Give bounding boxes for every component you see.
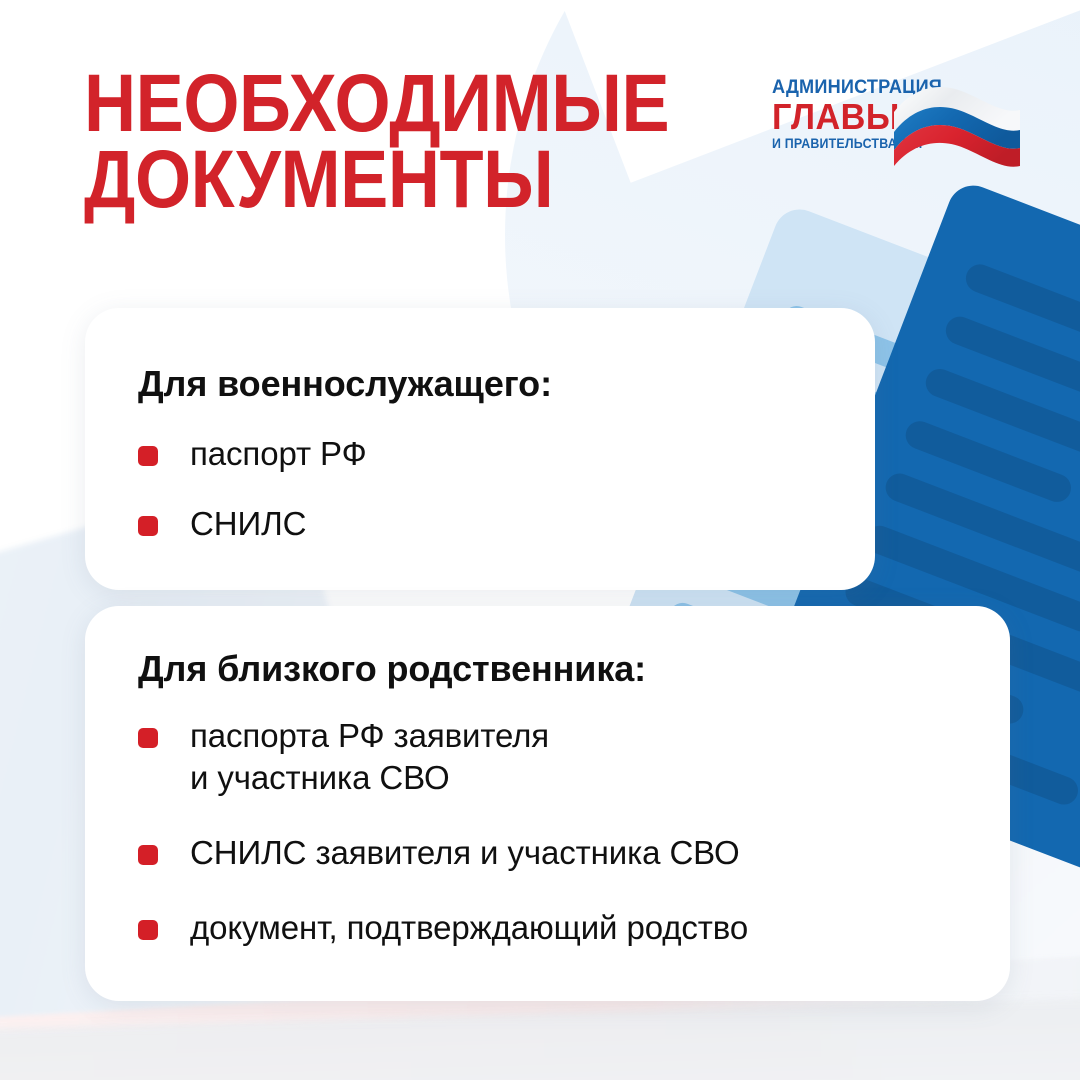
document-list: паспорта РФ заявителя и участника СВО СН…	[138, 715, 974, 982]
list-item: СНИЛС заявителя и участника СВО	[138, 832, 974, 874]
list-item: паспорт РФ	[138, 433, 839, 475]
organization-logo: Администрация Главы и Правительства ДНР	[772, 74, 1022, 172]
poster-canvas: НЕОБХОДИМЫЕ ДОКУМЕНТЫ Администрация Глав…	[0, 0, 1080, 1080]
card-heading: Для военнослужащего:	[138, 363, 552, 405]
card-heading: Для близкого родственника:	[138, 648, 646, 690]
russian-flag-icon	[892, 76, 1024, 168]
document-list: паспорт РФ СНИЛС	[138, 433, 839, 573]
list-item: СНИЛС	[138, 503, 839, 545]
card-relative-documents: Для близкого родственника: паспорта РФ з…	[85, 606, 1010, 1001]
list-item: документ, подтверждающий родство	[138, 907, 974, 949]
list-item: паспорта РФ заявителя и участника СВО	[138, 715, 974, 799]
page-title: НЕОБХОДИМЫЕ ДОКУМЕНТЫ	[84, 66, 647, 219]
card-military-documents: Для военнослужащего: паспорт РФ СНИЛС	[85, 308, 875, 590]
